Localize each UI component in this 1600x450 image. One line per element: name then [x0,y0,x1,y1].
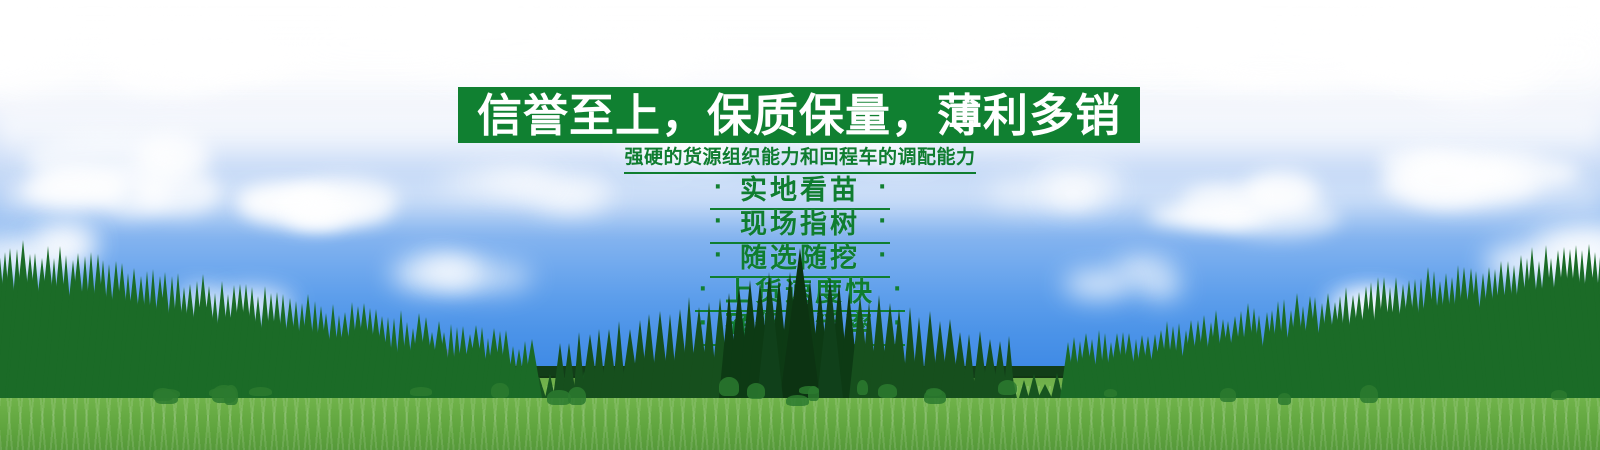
field-bush [998,380,1017,396]
feature-item: · 实地看苗 · [0,176,1600,210]
field-bush [786,395,809,406]
conifer-tree [1060,342,1076,398]
bullet-dot-icon: · [699,279,707,301]
feature-inner: · 实地看苗 · [710,177,891,210]
field-bush [1278,393,1291,404]
subtitle-text: 强硬的货源组织能力和回程车的调配能力 [624,146,975,174]
feature-label: 实地看苗 [740,177,860,204]
field-bush [491,383,508,398]
bullet-dot-icon: · [714,211,722,233]
field-bush [410,387,432,396]
headline-band: 信誉至上，保质保量，薄利多销 [458,87,1140,143]
conifer-tree [780,248,820,398]
field-bush [1360,385,1378,403]
bullet-dot-icon: · [893,279,901,301]
field-bush [209,388,232,397]
field-bush [249,387,272,396]
field-bush [808,386,819,400]
field-bush [747,383,765,399]
subtitle-row: 强硬的货源组织能力和回程车的调配能力 [0,146,1600,174]
field-bush [1220,388,1237,401]
conifer-tree [757,278,783,398]
field-bush [547,390,571,405]
field-bush [1551,390,1567,400]
field-bush [568,387,586,405]
feature-label: 现场指树 [740,211,860,238]
field-bush [857,380,868,395]
bullet-dot-icon: · [714,245,722,267]
feature-inner: · 现场指树 · [710,211,891,244]
feature-item: · 现场指树 · [0,210,1600,244]
bullet-dot-icon: · [878,211,886,233]
field-bush [719,377,739,396]
bullet-dot-icon: · [878,177,886,199]
promo-banner: 信誉至上，保质保量，薄利多销 强硬的货源组织能力和回程车的调配能力 · 实地看苗… [0,0,1600,450]
bullet-dot-icon: · [878,245,886,267]
conifer-tree [522,339,542,398]
field-bush [1104,389,1117,397]
field-bush [926,388,943,396]
bullet-dot-icon: · [714,177,722,199]
conifer-tree [1019,380,1029,398]
field-bush [878,384,897,398]
conifer-tree [817,278,843,398]
headline-text: 信誉至上，保质保量，薄利多销 [477,93,1121,138]
field-bush [156,389,180,398]
